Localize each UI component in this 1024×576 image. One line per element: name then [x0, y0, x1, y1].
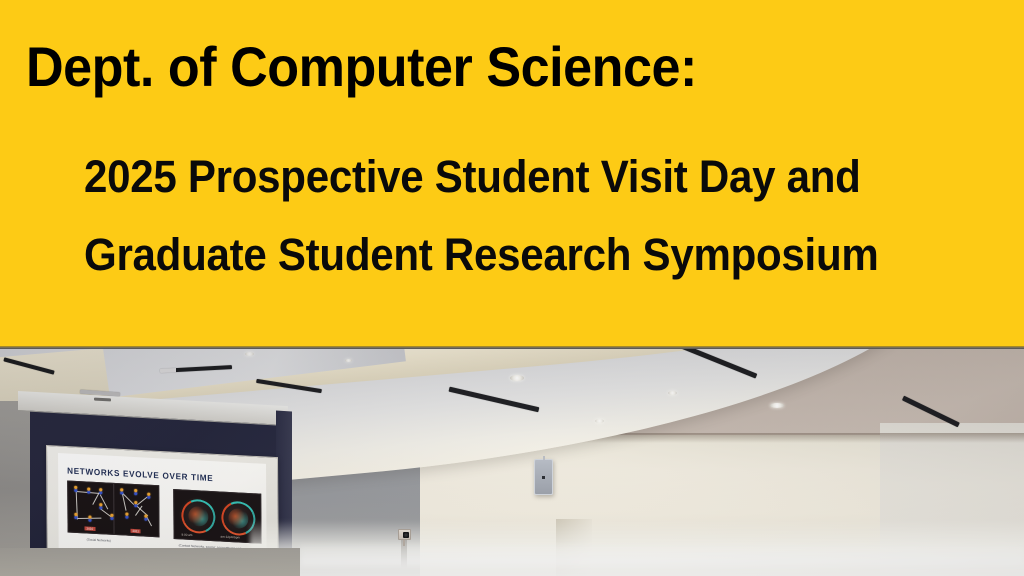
downlight-icon: [345, 359, 352, 362]
slide-time-label: 9:00 am: [180, 532, 195, 537]
downlight-icon: [770, 403, 784, 408]
slide-panel-social-networks: 2010: [67, 480, 159, 537]
camera-mount-stem: [403, 539, 405, 546]
cove-lighting-band: [300, 544, 1024, 566]
title-banner: Dept. of Computer Science: 2025 Prospect…: [0, 0, 1024, 348]
contact-network-circle-icon: [179, 496, 217, 536]
subtitle-block: 2025 Prospective Student Visit Day and G…: [84, 138, 879, 294]
slide-panel-contact-networks: 9:00 am am-12pm/5pm: [173, 489, 261, 544]
floor-lower-left: [0, 548, 300, 576]
lecture-hall-photo: NETWORKS EVOLVE OVER TIME: [0, 349, 1024, 576]
slide-time-label: am-12pm/5pm: [219, 534, 242, 539]
downlight-icon: [510, 375, 524, 381]
downlight-icon: [595, 419, 604, 423]
downlight-icon: [668, 391, 677, 395]
subtitle-line-2: Graduate Student Research Symposium: [84, 216, 879, 294]
downlight-icon: [245, 352, 254, 356]
page-title: Dept. of Computer Science:: [26, 36, 697, 98]
speaker-center-dot: [542, 476, 545, 479]
wall-speaker-icon: [534, 459, 553, 495]
speaker-mount-stem: [543, 456, 545, 460]
slide-year-label: 2011: [131, 529, 141, 534]
wall-camera-icon: [398, 529, 411, 540]
camera-lens-icon: [403, 532, 409, 538]
banner-divider: [0, 346, 1024, 349]
presentation-slide: Dept. of Computer Science: 2025 Prospect…: [0, 0, 1024, 576]
slide-year-label: 2010: [85, 526, 96, 531]
projected-slide-title: NETWORKS EVOLVE OVER TIME: [67, 465, 213, 483]
slide-caption-left: (Social Networks): [87, 538, 111, 543]
subtitle-line-1: 2025 Prospective Student Visit Day and: [84, 138, 879, 216]
